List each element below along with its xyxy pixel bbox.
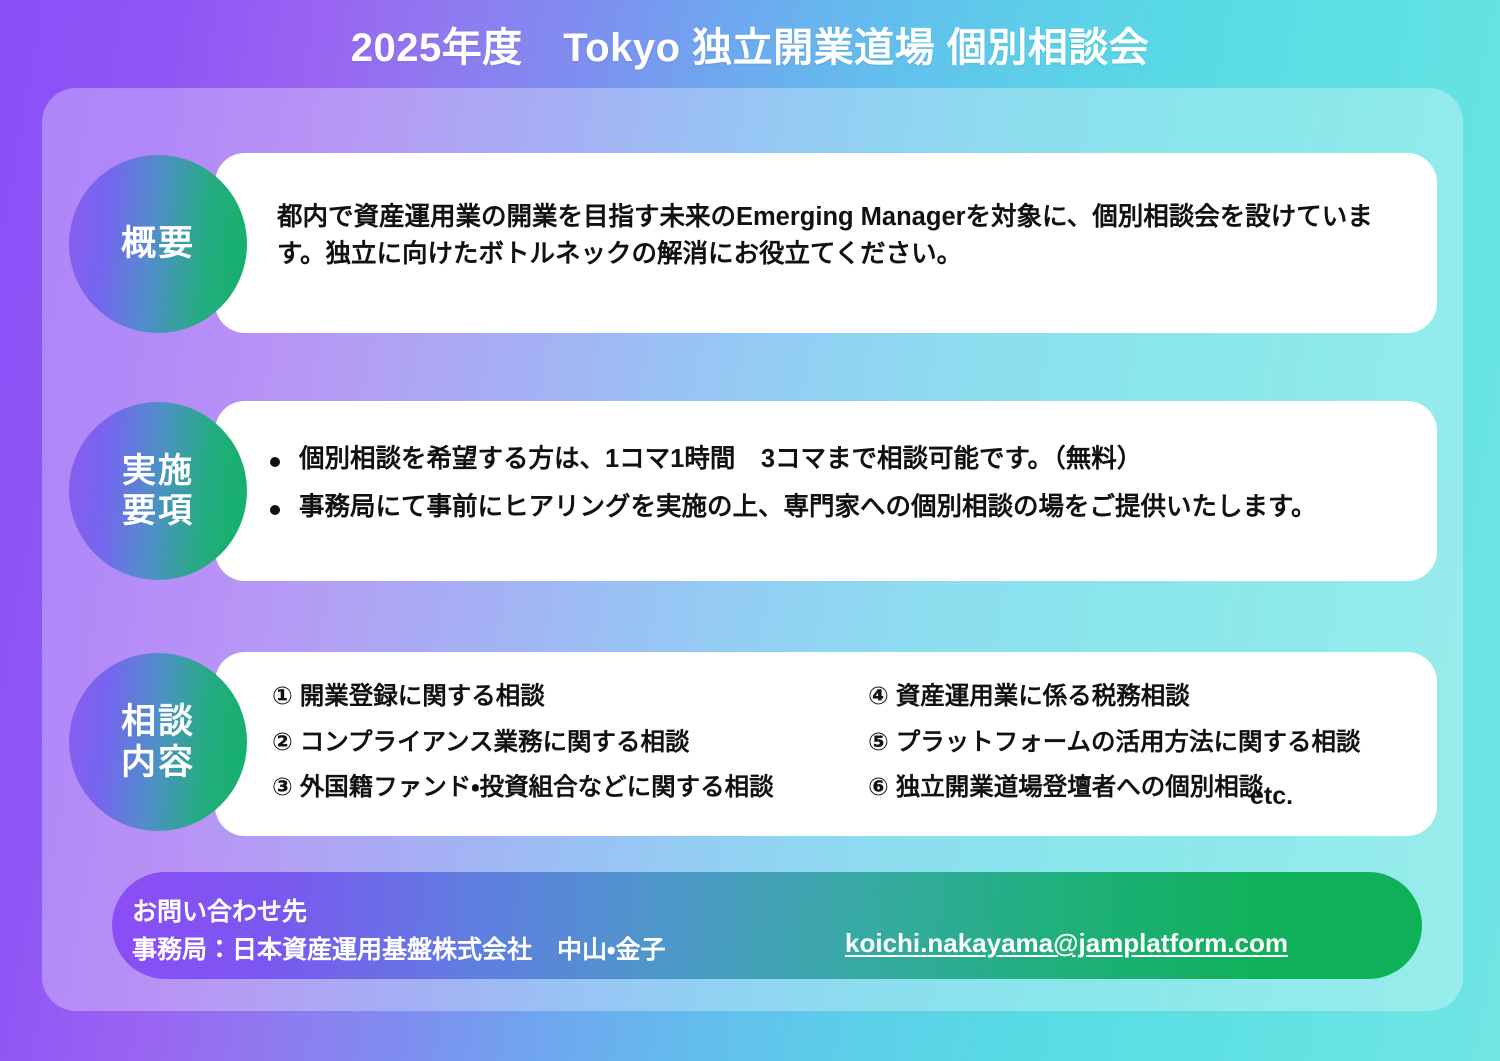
list-item: ①開業登録に関する相談 [272, 685, 774, 710]
topics-etc-label: etc. [1250, 782, 1293, 811]
section-badge-guidelines: 実施 要項 [69, 402, 247, 580]
list-label: 資産運用業に係る税務相談 [896, 683, 1190, 710]
contact-email-link[interactable]: koichi.nakayama@jamplatform.com [845, 928, 1288, 959]
badge-line: 実施 [122, 451, 194, 491]
badge-line: 概要 [121, 223, 195, 264]
poster-root: 2025年度 Tokyo 独立開業道場 個別相談会 概要 都内で資産運用業の開業… [0, 0, 1500, 1061]
list-label: 独立開業道場登壇者への個別相談 [896, 774, 1264, 801]
badge-line: 内容 [121, 742, 195, 783]
contact-office: 事務局：日本資産運用基盤株式会社 中山・金子 [132, 930, 666, 966]
guidelines-bullet-list: 個別相談を希望する方は、1コマ1時間 3コマまで相談可能です。（無料） 事務局に… [262, 447, 1316, 542]
poster-title-bar: 2025年度 Tokyo 独立開業道場 個別相談会 [0, 0, 1500, 88]
contact-label: お問い合わせ先 [132, 892, 307, 928]
list-label: 外国籍ファンド・投資組合などに関する相談 [300, 774, 774, 801]
contact-bar: お問い合わせ先 事務局：日本資産運用基盤株式会社 中山・金子 koichi.na… [112, 872, 1422, 979]
list-item: ③外国籍ファンド・投資組合などに関する相談 [272, 776, 774, 801]
list-label: コンプライアンス業務に関する相談 [300, 729, 690, 756]
list-item: 個別相談を希望する方は、1コマ1時間 3コマまで相談可能です。（無料） [262, 447, 1316, 473]
list-label: プラットフォームの活用方法に関する相談 [896, 729, 1361, 756]
list-number: ① [272, 685, 293, 710]
list-item: ④資産運用業に係る税務相談 [868, 685, 1361, 710]
list-number: ④ [868, 685, 889, 710]
list-item: ②コンプライアンス業務に関する相談 [272, 731, 774, 756]
topics-list-left: ①開業登録に関する相談 ②コンプライアンス業務に関する相談 ③外国籍ファンド・投… [272, 685, 774, 822]
list-item: ⑤プラットフォームの活用方法に関する相談 [868, 731, 1361, 756]
badge-line: 相談 [121, 701, 195, 742]
list-number: ③ [272, 776, 293, 801]
badge-line: 要項 [122, 491, 194, 531]
list-label: 開業登録に関する相談 [300, 683, 545, 710]
list-number: ② [272, 731, 293, 756]
page-title: 2025年度 Tokyo 独立開業道場 個別相談会 [351, 15, 1150, 73]
list-item: 事務局にて事前にヒアリングを実施の上、専門家への個別相談の場をご提供いたします。 [262, 495, 1316, 521]
list-number: ⑥ [868, 776, 889, 801]
section-badge-overview: 概要 [69, 155, 247, 333]
section-body-overview: 都内で資産運用業の開業を目指す未来のEmerging Managerを対象に、個… [277, 199, 1417, 273]
list-number: ⑤ [868, 731, 889, 756]
section-badge-topics: 相談 内容 [69, 653, 247, 831]
